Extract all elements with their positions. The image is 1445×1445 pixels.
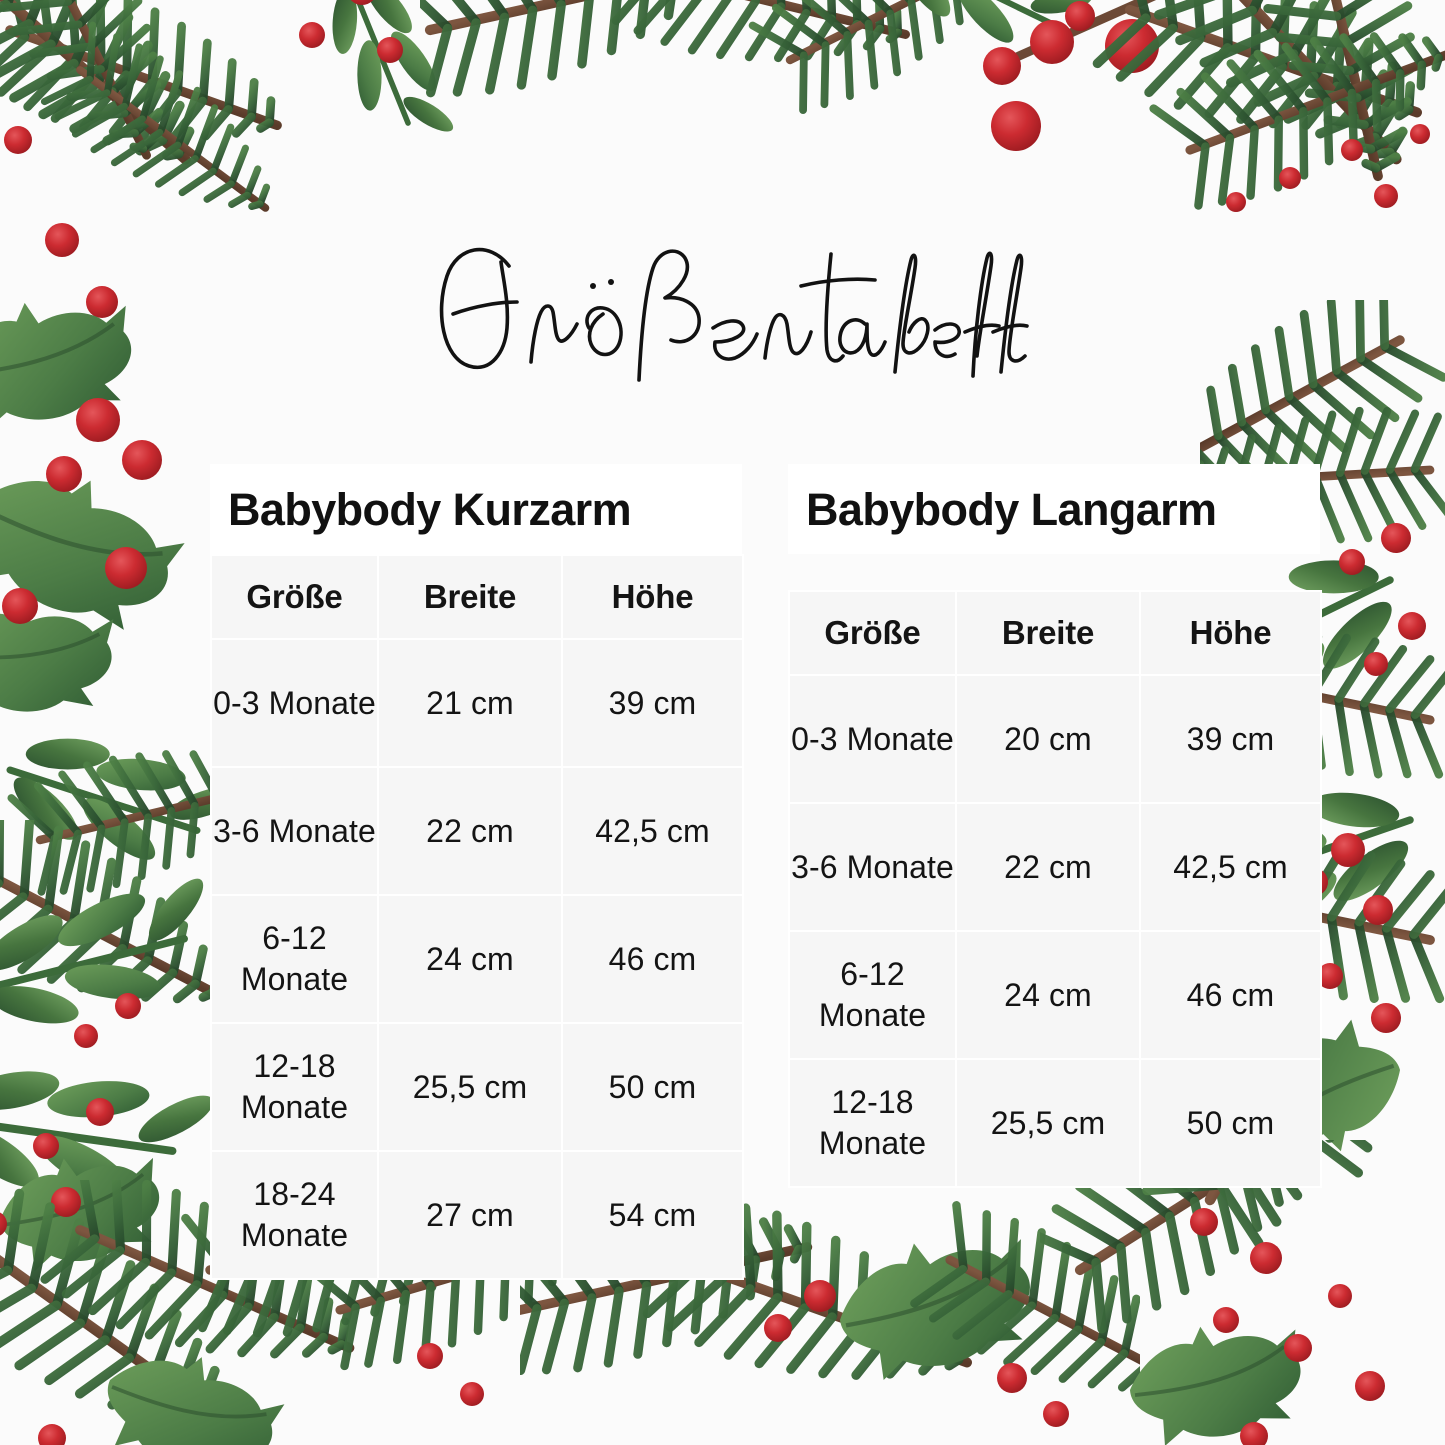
cell-height: 46 cm xyxy=(562,895,743,1023)
table-row: 0-3 Monate 21 cm 39 cm xyxy=(211,639,743,767)
table-row: 3-6 Monate 22 cm 42,5 cm xyxy=(789,803,1321,931)
page-title-script: Größentabelle xyxy=(413,232,1033,382)
cell-height: 50 cm xyxy=(1140,1059,1321,1187)
cell-size: 3-6 Monate xyxy=(211,767,378,895)
size-chart-kurzarm: Babybody Kurzarm Größe Breite Höhe 0-3 M… xyxy=(210,464,744,1280)
table-row: 3-6 Monate 22 cm 42,5 cm xyxy=(211,767,743,895)
cell-width: 24 cm xyxy=(378,895,562,1023)
cell-height: 42,5 cm xyxy=(1140,803,1321,931)
cell-width: 24 cm xyxy=(956,931,1140,1059)
cell-size: 3-6 Monate xyxy=(789,803,956,931)
table-row: 12-18 Monate 25,5 cm 50 cm xyxy=(211,1023,743,1151)
cell-size: 6-12 Monate xyxy=(789,931,956,1059)
column-header-size: Größe xyxy=(211,555,378,639)
size-chart-langarm: Babybody Langarm Größe Breite Höhe 0-3 M… xyxy=(788,464,1322,1188)
table-row: 12-18 Monate 25,5 cm 50 cm xyxy=(789,1059,1321,1187)
cell-width: 25,5 cm xyxy=(378,1023,562,1151)
table-row: 6-12 Monate 24 cm 46 cm xyxy=(211,895,743,1023)
page-title: Größentabelle xyxy=(0,232,1445,387)
cell-width: 21 cm xyxy=(378,639,562,767)
cell-width: 20 cm xyxy=(956,675,1140,803)
cell-width: 22 cm xyxy=(378,767,562,895)
table-row: 6-12 Monate 24 cm 46 cm xyxy=(789,931,1321,1059)
table-row: 18-24 Monate 27 cm 54 cm xyxy=(211,1151,743,1279)
column-header-size: Größe xyxy=(789,591,956,675)
cell-size: 0-3 Monate xyxy=(211,639,378,767)
size-table-kurzarm: Größe Breite Höhe 0-3 Monate 21 cm 39 cm… xyxy=(210,554,744,1280)
column-header-width: Breite xyxy=(378,555,562,639)
size-table-langarm: Größe Breite Höhe 0-3 Monate 20 cm 39 cm… xyxy=(788,590,1322,1188)
cell-width: 25,5 cm xyxy=(956,1059,1140,1187)
cell-size: 18-24 Monate xyxy=(211,1151,378,1279)
cell-height: 46 cm xyxy=(1140,931,1321,1059)
table-header-row: Größe Breite Höhe xyxy=(789,591,1321,675)
cell-width: 22 cm xyxy=(956,803,1140,931)
chart-heading-kurzarm: Babybody Kurzarm xyxy=(210,464,742,554)
chart-heading-langarm: Babybody Langarm xyxy=(788,464,1320,554)
cell-height: 50 cm xyxy=(562,1023,743,1151)
cell-height: 39 cm xyxy=(1140,675,1321,803)
top-center-foliage xyxy=(420,0,1120,240)
cell-size: 12-18 Monate xyxy=(789,1059,956,1187)
column-header-height: Höhe xyxy=(1140,591,1321,675)
cell-height: 42,5 cm xyxy=(562,767,743,895)
column-header-width: Breite xyxy=(956,591,1140,675)
table-header-row: Größe Breite Höhe xyxy=(211,555,743,639)
cell-size: 12-18 Monate xyxy=(211,1023,378,1151)
size-chart-page: Größentabelle xyxy=(0,0,1445,1445)
cell-size: 0-3 Monate xyxy=(789,675,956,803)
cell-height: 39 cm xyxy=(562,639,743,767)
column-header-height: Höhe xyxy=(562,555,743,639)
cell-width: 27 cm xyxy=(378,1151,562,1279)
cell-height: 54 cm xyxy=(562,1151,743,1279)
cell-size: 6-12 Monate xyxy=(211,895,378,1023)
table-row: 0-3 Monate 20 cm 39 cm xyxy=(789,675,1321,803)
